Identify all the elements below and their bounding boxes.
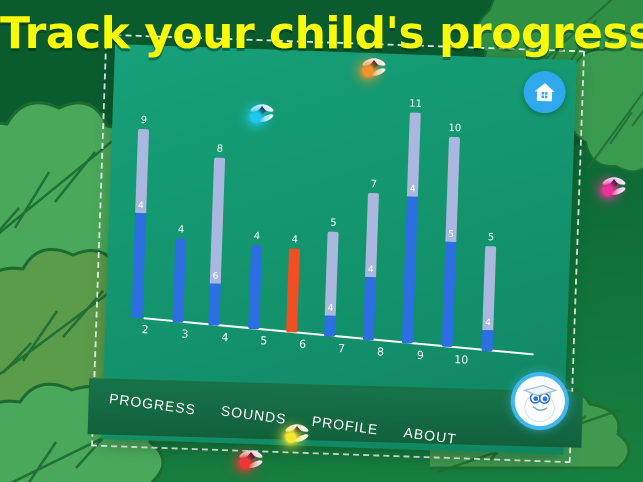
chart-bar-upper-segment: 5: [445, 137, 460, 242]
chart-bar-lower-segment: [402, 196, 418, 343]
firefly-orange: [359, 56, 389, 85]
firefly-yellow: [282, 422, 312, 451]
nav-item-profile[interactable]: PROFILE: [311, 413, 379, 438]
chart-bar[interactable]: 47: [363, 193, 379, 340]
chart-bar-upper-segment: 4: [365, 193, 379, 277]
home-icon: [532, 80, 557, 105]
chart-bar-lower-segment: [172, 238, 186, 322]
chart-bar-upper-segment: 4: [482, 246, 496, 330]
chart-x-tick-label: 9: [417, 349, 424, 362]
chart-bar-upper-value: 5: [448, 230, 454, 240]
progress-bar-chart: 49468444547411510452345678910: [104, 44, 577, 390]
chart-bar-lower-segment: [363, 277, 376, 340]
nav-item-progress[interactable]: PROGRESS: [108, 390, 197, 417]
chart-bar[interactable]: 510: [442, 137, 460, 347]
chart-bar-total-label: 5: [330, 217, 337, 228]
firefly-cyan: [247, 102, 277, 131]
chart-bar-total-label: 7: [370, 179, 377, 190]
chart-bar-upper-value: 4: [368, 265, 374, 275]
chart-bar-upper-segment: 4: [325, 231, 339, 315]
chart-bar[interactable]: 49: [131, 129, 149, 318]
chart-bar-lower-segment: [442, 242, 457, 347]
chart-bar[interactable]: 4: [248, 245, 262, 329]
progress-board: 49468444547411510452345678910: [101, 44, 577, 455]
chart-bar-lower-segment: [482, 330, 494, 351]
page-title: Track your child's progress: [0, 8, 643, 59]
chart-bar-total-label: 4: [178, 224, 185, 235]
nav-item-sounds[interactable]: SOUNDS: [220, 402, 287, 427]
chart-bar-total-label: 11: [409, 98, 422, 109]
chart-bar-upper-value: 4: [138, 201, 144, 211]
app-screen: 49468444547411510452345678910: [0, 0, 643, 482]
chart-bar[interactable]: 411: [402, 112, 421, 343]
chart-bar-total-label: 9: [140, 115, 147, 126]
chart-bar[interactable]: 4: [172, 238, 186, 322]
chart-bar-total-label: 4: [254, 231, 261, 242]
chart-bar-upper-value: 4: [410, 185, 416, 195]
chart-bar[interactable]: 45: [324, 231, 339, 336]
chart-bar-lower-segment: [131, 213, 146, 318]
chart-bar-total-label: 4: [291, 235, 298, 246]
chart-bar[interactable]: 68: [208, 158, 225, 326]
chart-bar-upper-value: 6: [212, 272, 218, 282]
chart-x-tick-label: 3: [181, 327, 188, 340]
chart-x-tick-label: 8: [377, 345, 384, 358]
chart-x-tick-label: 5: [260, 334, 267, 347]
chart-bar[interactable]: 45: [482, 246, 497, 351]
chart-bar-total-label: 5: [488, 232, 495, 243]
chart-x-tick-label: 6: [299, 338, 306, 351]
chart-bar-total-label: 8: [217, 144, 224, 155]
chart-bar[interactable]: 4: [286, 249, 300, 333]
chart-bar-upper-segment: 4: [407, 112, 421, 196]
owl-avatar-icon: [514, 373, 566, 429]
chart-bar-upper-value: 4: [327, 303, 333, 313]
chart-x-tick-label: 10: [454, 353, 468, 366]
chart-bar-lower-segment: [286, 249, 300, 333]
firefly-pink: [599, 175, 629, 204]
chart-bar-lower-segment: [208, 283, 220, 325]
chart-bar-lower-segment: [324, 315, 336, 336]
chart-bar-upper-segment: 4: [135, 129, 149, 213]
chart-bar-upper-value: 4: [485, 318, 491, 328]
chart-bar-lower-segment: [248, 245, 262, 329]
chart-bar-upper-segment: 6: [210, 158, 225, 284]
chart-bar-total-label: 10: [448, 123, 461, 134]
chart-x-tick-label: 4: [221, 331, 228, 344]
chart-x-tick-label: 2: [141, 323, 148, 336]
chart-x-tick-label: 7: [338, 342, 345, 355]
firefly-red: [236, 448, 266, 477]
